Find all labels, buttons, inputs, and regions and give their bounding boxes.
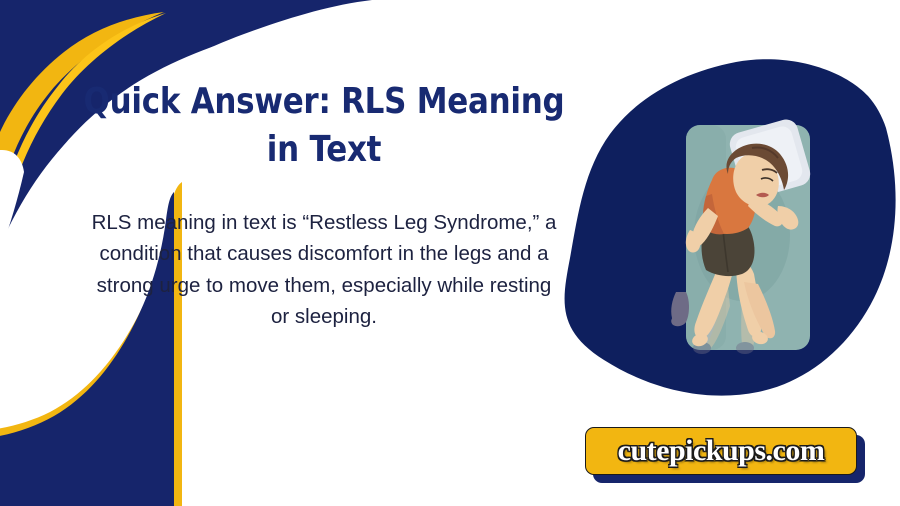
body-shadow [694, 169, 790, 301]
bottom-blob-white-cut [0, 150, 24, 252]
pillow [727, 117, 813, 202]
hair [726, 144, 788, 190]
arm-upper [748, 196, 783, 226]
shorts [702, 214, 755, 276]
hand-upper [777, 206, 798, 230]
legs [669, 258, 775, 348]
shorts-seam [722, 222, 728, 272]
page-title: Quick Answer: RLS Meaning in Text [75, 78, 574, 173]
eye [761, 178, 773, 181]
text-column: Quick Answer: RLS Meaning in Text RLS me… [34, 78, 614, 332]
hair-strand [752, 147, 778, 158]
infographic-canvas: Quick Answer: RLS Meaning in Text RLS me… [0, 0, 900, 506]
eyebrow [762, 169, 777, 173]
mouth [756, 193, 769, 198]
face [733, 155, 779, 207]
site-logo-badge[interactable]: cutepickups.com [585, 427, 857, 475]
navy-organic-blob [565, 59, 896, 395]
hand-lower [686, 230, 700, 253]
motion-blur-legs [693, 268, 756, 354]
mattress-shade [686, 125, 726, 350]
tank-strap [742, 170, 756, 188]
tank-top-shade [703, 194, 724, 234]
sock [671, 292, 689, 325]
body-paragraph: RLS meaning in text is “Restless Leg Syn… [89, 207, 559, 332]
tank-top [704, 168, 756, 234]
arm-lower [692, 208, 718, 246]
logo-plate[interactable]: cutepickups.com [585, 427, 857, 475]
head [726, 144, 788, 207]
mattress [686, 125, 810, 350]
logo-text: cutepickups.com [618, 436, 825, 466]
